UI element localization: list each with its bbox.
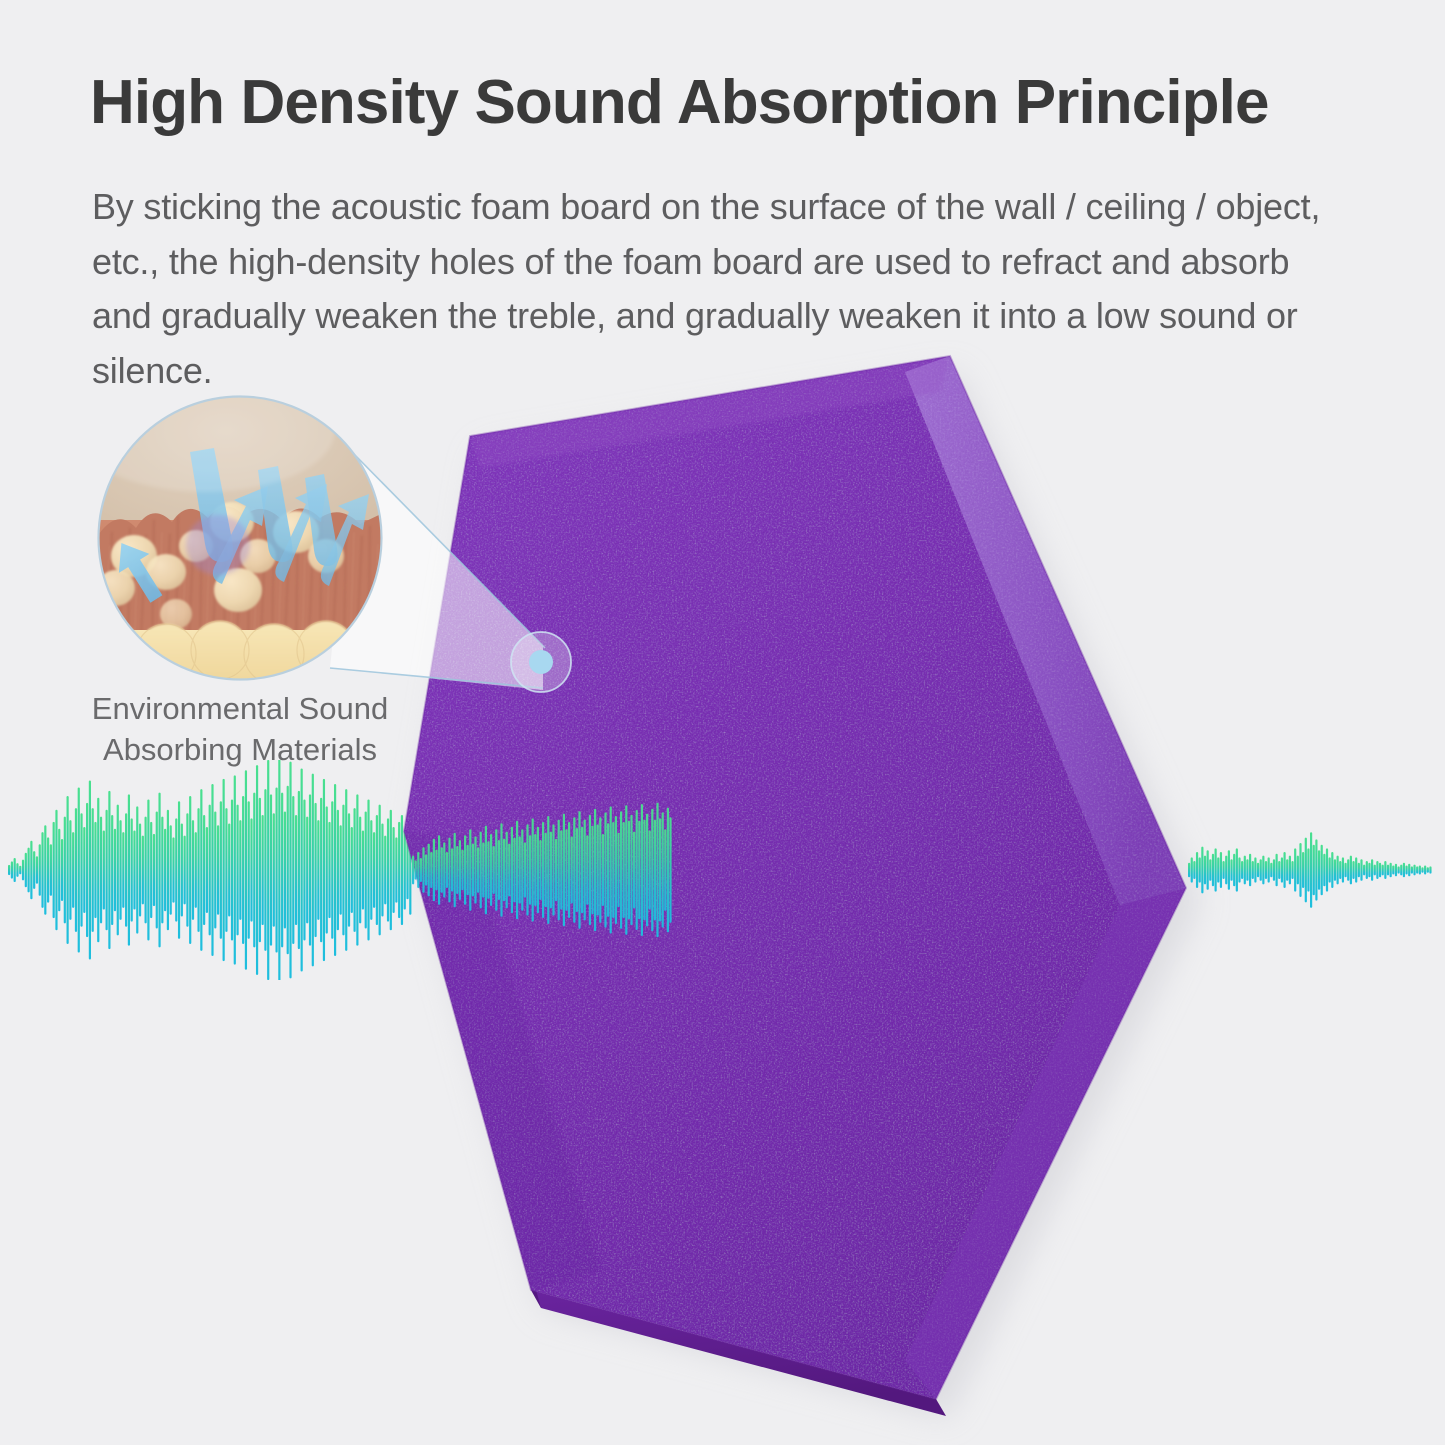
wave-bar	[1408, 864, 1410, 877]
wave-bar	[376, 815, 378, 925]
wave-bar	[638, 821, 640, 919]
wave-bar	[425, 854, 427, 885]
wave-bar	[281, 793, 283, 948]
wave-bar	[111, 815, 113, 925]
wave-bar	[542, 822, 544, 918]
wave-bar	[1217, 857, 1219, 882]
wave-bar	[178, 801, 180, 939]
wave-bar	[422, 847, 424, 893]
wave-bar	[264, 789, 266, 951]
wave-bar	[1188, 863, 1190, 877]
wave-bar	[58, 829, 60, 912]
wave-bar	[563, 814, 565, 927]
wave-bar	[1257, 863, 1259, 877]
wave-bar	[1265, 861, 1267, 879]
wave-bar	[36, 856, 38, 884]
wave-bar	[1366, 861, 1368, 879]
wave-bar	[16, 863, 18, 877]
wave-bar	[623, 822, 625, 918]
wave-bar	[211, 784, 213, 956]
infographic-root: High Density Sound Absorption Principle …	[0, 0, 1445, 1445]
wave-bar	[1321, 845, 1323, 895]
wave-bar	[1329, 857, 1331, 882]
wave-bar	[581, 827, 583, 913]
wave-bar	[331, 801, 333, 939]
wave-bar	[158, 793, 160, 948]
wave-bar	[597, 824, 599, 915]
wave-bar	[1429, 866, 1431, 873]
wave-bar	[584, 820, 586, 921]
wave-bar	[370, 820, 372, 920]
wave-bar	[1384, 861, 1386, 879]
wave-bar	[1201, 847, 1203, 894]
wave-bar	[1421, 867, 1423, 872]
wave-bar	[275, 787, 277, 952]
wave-bar	[446, 852, 448, 888]
wave-bar	[1204, 856, 1206, 885]
wave-bar	[362, 830, 364, 909]
wave-bar	[435, 850, 437, 891]
wave-bar	[1236, 848, 1238, 891]
wave-bar	[524, 842, 526, 897]
wave-bar	[239, 820, 241, 920]
wave-bar	[1390, 863, 1392, 877]
wave-bar	[359, 817, 361, 924]
wave-bar	[314, 803, 316, 937]
wave-bar	[620, 811, 622, 929]
wave-bar	[14, 858, 16, 882]
incoming-sound-wave	[8, 756, 411, 983]
wave-bar	[1270, 863, 1272, 877]
wave-bar	[586, 835, 588, 905]
wave-bar	[289, 762, 291, 979]
wave-bar	[576, 828, 578, 912]
wave-bar	[1254, 857, 1256, 882]
wave-bar	[186, 813, 188, 927]
wave-bar	[64, 817, 66, 924]
wave-bar	[156, 812, 158, 929]
wave-bar	[1334, 859, 1336, 881]
wave-bar	[217, 825, 219, 914]
wave-bar	[443, 842, 445, 897]
wave-bar	[1305, 838, 1307, 903]
wave-bar	[200, 789, 202, 951]
wave-bar	[301, 769, 303, 972]
wave-bar	[172, 837, 174, 902]
wave-bar	[22, 860, 24, 881]
wave-bar	[612, 822, 614, 918]
wave-bar	[1371, 859, 1373, 881]
wave-bar	[467, 845, 469, 895]
wave-bar	[1427, 867, 1429, 872]
wave-bar	[428, 844, 430, 897]
wave-bar	[1215, 848, 1217, 891]
wave-bar	[1387, 865, 1389, 876]
wave-bar	[615, 816, 617, 924]
wave-bar	[253, 793, 255, 948]
wave-bar	[41, 832, 43, 908]
wave-bar	[1363, 865, 1365, 876]
wave-bar	[1400, 865, 1402, 876]
wave-bar	[53, 822, 55, 918]
attenuated-sound-wave	[1188, 832, 1432, 908]
wave-bar	[539, 840, 541, 900]
wave-bar	[589, 815, 591, 925]
wave-bar	[1379, 863, 1381, 877]
wave-bar	[108, 791, 110, 949]
wave-bar	[602, 834, 604, 906]
wave-bar	[234, 775, 236, 964]
wave-bar	[571, 836, 573, 903]
wave-bar	[139, 824, 141, 917]
wave-bar	[1196, 852, 1198, 888]
wave-bar	[1326, 848, 1328, 891]
wave-bar	[599, 817, 601, 923]
wave-bar	[545, 833, 547, 907]
wave-bar	[1395, 864, 1397, 877]
wave-bar	[395, 837, 397, 902]
wave-bar	[485, 826, 487, 915]
wave-bar	[1222, 861, 1224, 879]
wave-bar	[656, 803, 658, 937]
wave-bar	[441, 847, 443, 893]
wave-bar	[228, 824, 230, 917]
wave-bar	[1199, 857, 1201, 882]
wave-bar	[119, 820, 121, 920]
wave-bar	[1318, 850, 1320, 890]
wave-bar	[565, 829, 567, 911]
wave-bar	[1313, 845, 1315, 895]
wave-bar	[1424, 866, 1426, 875]
wave-bar	[506, 832, 508, 909]
wave-bar	[223, 779, 225, 961]
wave-bar	[150, 822, 152, 918]
wave-bar	[417, 852, 419, 888]
wave-bar	[231, 799, 233, 940]
wave-bar	[664, 829, 666, 911]
wave-bar	[323, 779, 325, 961]
hotspot-marker[interactable]	[511, 632, 571, 692]
wave-bar	[1241, 861, 1243, 879]
wave-bar	[78, 787, 80, 952]
wave-bar	[1411, 866, 1413, 873]
wave-bar	[490, 834, 492, 906]
wave-bar	[633, 832, 635, 909]
wave-bar	[379, 805, 381, 936]
wave-bar	[147, 799, 149, 940]
wave-bar	[1374, 865, 1376, 876]
wave-bar	[373, 832, 375, 908]
wave-bar	[550, 832, 552, 909]
wave-bar	[464, 835, 466, 905]
wave-bar	[1360, 859, 1362, 881]
wave-bar	[495, 829, 497, 911]
wave-bar	[1283, 852, 1285, 888]
wave-bar	[404, 830, 406, 909]
wave-bar	[526, 824, 528, 915]
wave-bar	[114, 829, 116, 912]
wave-bar	[1392, 866, 1394, 875]
wave-bar	[628, 821, 630, 919]
wave-bar	[398, 822, 400, 918]
wave-bar	[19, 866, 21, 875]
wave-bar	[641, 804, 643, 936]
wave-bar	[192, 820, 194, 920]
caption-line-1: Environmental Sound	[60, 688, 420, 729]
wave-bar	[86, 803, 88, 937]
wave-bar	[365, 812, 367, 929]
wave-bar	[508, 844, 510, 897]
wave-bar	[1281, 857, 1283, 882]
wave-bar	[1291, 861, 1293, 879]
hotspot-dot	[529, 650, 553, 674]
wave-bar	[136, 806, 138, 933]
wave-bar	[348, 813, 350, 927]
wave-bar	[328, 822, 330, 918]
wave-bar	[8, 865, 10, 875]
wave-bar	[309, 794, 311, 945]
wave-bar	[646, 814, 648, 927]
wave-bar	[537, 827, 539, 913]
wave-bar	[1339, 861, 1341, 879]
wave-bar	[607, 823, 609, 917]
wave-bar	[451, 848, 453, 891]
wave-bar	[552, 824, 554, 915]
wave-bar	[456, 846, 458, 894]
wave-bar	[1337, 856, 1339, 885]
wave-bar	[625, 805, 627, 935]
wave-bar	[415, 860, 417, 879]
wave-bar	[459, 840, 461, 900]
wave-bar	[72, 832, 74, 908]
wave-bar	[67, 796, 69, 944]
wave-bar	[1331, 852, 1333, 888]
wave-bar	[306, 817, 308, 924]
wave-bar	[454, 833, 456, 907]
wave-bar	[351, 827, 353, 913]
wave-bar	[1193, 861, 1195, 879]
wave-bar	[1358, 863, 1360, 877]
wave-bar	[164, 829, 166, 912]
wave-bar	[651, 809, 653, 931]
wave-bar	[1347, 859, 1349, 881]
wave-bar	[1382, 865, 1384, 876]
wave-bar	[604, 812, 606, 927]
wave-bar	[44, 825, 46, 914]
wave-bar	[659, 818, 661, 921]
wave-bar	[334, 784, 336, 956]
wave-bar	[97, 798, 99, 942]
wave-bar	[125, 813, 127, 927]
wave-bar	[412, 856, 414, 885]
wave-bar	[649, 830, 651, 909]
wave-bar	[133, 830, 135, 909]
wave-bar	[477, 847, 479, 893]
wave-bar	[197, 808, 199, 932]
wave-bar	[487, 841, 489, 899]
wave-bar	[175, 818, 177, 921]
wave-bar	[242, 796, 244, 944]
wave-bar	[547, 816, 549, 924]
wave-bar	[292, 796, 294, 944]
wave-bar	[384, 836, 386, 905]
wave-bar	[262, 815, 264, 925]
wave-bar	[433, 839, 435, 901]
wave-bar	[337, 810, 339, 930]
wave-bar	[55, 810, 57, 930]
wave-bar	[1262, 856, 1264, 885]
wave-bar	[1228, 850, 1230, 890]
wave-bar	[30, 841, 32, 899]
wave-bar	[50, 844, 52, 896]
wave-bar	[469, 829, 471, 911]
wave-bar	[75, 808, 77, 932]
wave-bar	[100, 817, 102, 924]
wave-bar	[128, 794, 130, 945]
caption-line-2: Absorbing Materials	[60, 729, 420, 770]
wave-bar	[654, 820, 656, 921]
wave-bar	[340, 825, 342, 914]
wave-bar	[189, 796, 191, 944]
wave-bar	[220, 801, 222, 939]
wave-bar	[401, 815, 403, 925]
wave-bar	[558, 820, 560, 921]
wave-bar	[1355, 857, 1357, 882]
wave-bar	[1209, 859, 1211, 881]
wave-bar	[1278, 861, 1280, 879]
wave-bar	[69, 820, 71, 920]
wave-bar	[181, 824, 183, 917]
wave-bar	[560, 830, 562, 909]
wave-bar	[482, 842, 484, 897]
wave-bar	[103, 830, 105, 909]
wave-bar	[448, 838, 450, 903]
wave-bar	[1315, 839, 1317, 900]
wave-bar	[521, 829, 523, 911]
wave-bar	[33, 851, 35, 889]
wave-bar	[529, 835, 531, 905]
wave-bar	[511, 827, 513, 913]
wave-bar	[106, 810, 108, 930]
wave-bar	[345, 789, 347, 951]
wave-bar	[1342, 857, 1344, 882]
wave-bar	[184, 836, 186, 905]
wave-bar	[1225, 856, 1227, 885]
wave-bar	[142, 836, 144, 905]
wave-bar	[317, 820, 319, 920]
wave-bar	[1260, 859, 1262, 881]
wave-bar	[295, 815, 297, 925]
wave-bar	[438, 835, 440, 905]
wave-bar	[1416, 866, 1418, 873]
wave-bar	[1323, 854, 1325, 886]
wave-bar	[430, 852, 432, 888]
wave-bar	[568, 822, 570, 918]
wave-bar	[617, 833, 619, 907]
wave-bar	[532, 818, 534, 921]
wave-bar	[1286, 859, 1288, 881]
wave-bar	[1220, 852, 1222, 888]
wave-bar	[356, 794, 358, 945]
wave-bar	[326, 806, 328, 933]
wave-bar	[1273, 859, 1275, 881]
wave-bar	[131, 818, 133, 921]
wave-bar	[1233, 854, 1235, 886]
wave-bar	[1238, 857, 1240, 882]
wave-bar	[500, 823, 502, 917]
wave-bar	[170, 825, 172, 914]
wave-bar	[555, 839, 557, 901]
wave-bar	[80, 813, 82, 927]
wave-bar	[83, 827, 85, 913]
wave-bar	[393, 827, 395, 913]
wave-bar	[206, 827, 208, 913]
wave-bar	[390, 810, 392, 930]
wave-bar	[669, 817, 671, 923]
wave-bar	[245, 770, 247, 970]
wave-bar	[480, 832, 482, 909]
wave-bar	[1350, 856, 1352, 885]
wave-bar	[461, 850, 463, 891]
wave-bar	[287, 786, 289, 955]
wave-bar	[367, 799, 369, 940]
wave-bar	[236, 805, 238, 936]
wave-bar	[167, 810, 169, 930]
wave-bar	[1310, 832, 1312, 908]
wave-bar	[1403, 863, 1405, 877]
wave-bar	[493, 846, 495, 894]
wave-bar	[284, 812, 286, 929]
wave-bar	[203, 815, 205, 925]
wave-bar	[92, 808, 94, 932]
wave-bar	[153, 834, 155, 906]
wave-bar	[1302, 852, 1304, 888]
wave-bar	[498, 840, 500, 900]
wave-bar	[420, 858, 422, 882]
wave-bar	[298, 791, 300, 949]
wave-bar	[1307, 848, 1309, 891]
callout-caption: Environmental Sound Absorbing Materials	[60, 688, 420, 770]
wave-bar	[1413, 865, 1415, 876]
wave-bar	[594, 809, 596, 931]
wave-bar	[28, 848, 30, 893]
wave-bar	[630, 815, 632, 925]
wave-bar	[513, 838, 515, 903]
wave-bar	[1352, 861, 1354, 879]
wave-bar	[1244, 856, 1246, 885]
wave-bar	[1249, 854, 1251, 886]
wave-bar	[273, 813, 275, 927]
wave-bar	[256, 765, 258, 975]
wave-bar	[1276, 854, 1278, 886]
wave-bar	[353, 808, 355, 932]
wave-bar	[534, 834, 536, 906]
wave-bar	[320, 798, 322, 942]
wave-bar	[248, 801, 250, 939]
wave-bar	[117, 805, 119, 936]
wave-bar	[519, 836, 521, 903]
wave-bar	[342, 805, 344, 936]
wave-bar	[270, 794, 272, 945]
wave-bar	[25, 853, 27, 887]
wave-bar	[636, 810, 638, 930]
wave-bar	[1230, 859, 1232, 881]
wave-bar	[643, 820, 645, 921]
wave-bar	[1246, 859, 1248, 881]
wave-bar	[472, 844, 474, 897]
wave-bar	[209, 805, 211, 936]
wave-bar	[1294, 848, 1296, 891]
